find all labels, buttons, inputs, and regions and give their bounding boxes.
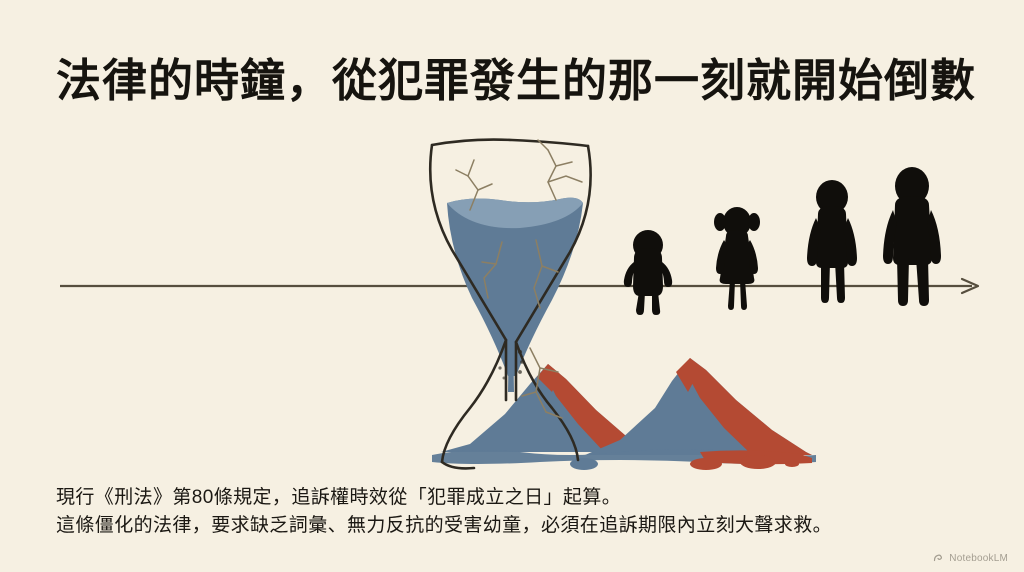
cracked-hourglass <box>430 140 590 469</box>
adult-silhouette <box>883 167 941 306</box>
notebooklm-logo-icon <box>933 552 945 564</box>
watermark-label: NotebookLM <box>949 553 1008 564</box>
caption-line-2: 這條僵化的法律，要求缺乏詞彙、無力反抗的受害幼童，必須在追訴期限內立刻大聲求救。 <box>56 512 976 540</box>
infographic-slide: 法律的時鐘，從犯罪發生的那一刻就開始倒數 <box>0 0 1024 572</box>
page-title: 法律的時鐘，從犯罪發生的那一刻就開始倒數 <box>56 52 986 110</box>
notebooklm-watermark: NotebookLM <box>933 552 1008 564</box>
boy-silhouette <box>807 180 857 303</box>
girl-silhouette <box>714 207 760 310</box>
toddler-silhouette <box>624 230 672 315</box>
timeline-arrow <box>60 279 978 293</box>
growing-child-silhouettes <box>624 167 941 315</box>
caption-block: 現行《刑法》第80條規定，追訴權時效從「犯罪成立之日」起算。 這條僵化的法律，要… <box>56 484 976 540</box>
caption-line-1: 現行《刑法》第80條規定，追訴權時效從「犯罪成立之日」起算。 <box>56 484 976 512</box>
sand-dunes <box>432 358 816 470</box>
